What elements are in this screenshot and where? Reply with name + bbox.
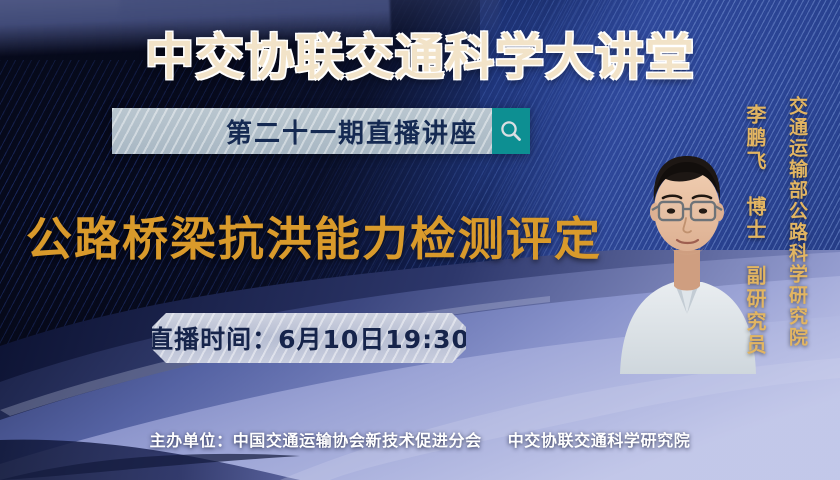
lecture-headline: 公路桥梁抗洪能力检测评定 <box>26 203 602 269</box>
speaker-organization: 交通运输部公路科学研究院 <box>784 96 811 348</box>
speaker-name: 李鹏飞 博士 副研究员 <box>741 104 770 357</box>
footer-org-secondary: 中交协联交通科学研究院 <box>508 431 691 450</box>
page-title: 中交协联交通科学大讲堂 <box>0 18 840 89</box>
poster-canvas: 中交协联交通科学大讲堂 第二十一期直播讲座 公路桥梁抗洪能力检测评定 直播时间：… <box>0 0 840 480</box>
footer-org-primary: 中国交通运输协会新技术促进分会 <box>233 431 482 450</box>
episode-banner: 第二十一期直播讲座 <box>112 108 530 154</box>
footer-prefix: 主办单位： <box>150 431 233 450</box>
speaker-portrait <box>612 116 762 374</box>
search-icon[interactable] <box>492 108 530 154</box>
broadcast-time-label: 直播时间：6月10日19:30 <box>152 320 466 356</box>
broadcast-time-badge: 直播时间：6月10日19:30 <box>152 313 466 363</box>
footer-organizers: 主办单位：中国交通运输协会新技术促进分会中交协联交通科学研究院 <box>0 427 840 451</box>
episode-label: 第二十一期直播讲座 <box>226 113 478 150</box>
episode-label-area: 第二十一期直播讲座 <box>112 108 492 154</box>
